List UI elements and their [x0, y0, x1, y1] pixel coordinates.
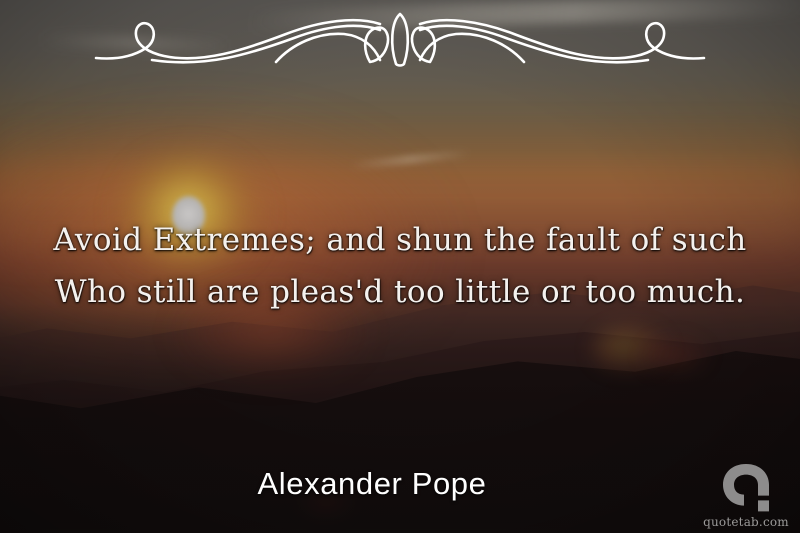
quotetab-logo-icon[interactable] — [718, 462, 774, 514]
watermark-site-label[interactable]: quotetab.com — [700, 515, 792, 529]
quote-image-card: Avoid Extremes; and shun the fault of su… — [0, 0, 800, 533]
flourish-ornament-icon — [94, 6, 706, 86]
quote-line-2: Who still are pleas'd too little or too … — [34, 266, 766, 318]
author-block: Alexander Pope — [0, 466, 800, 502]
quote-line-1: Avoid Extremes; and shun the fault of su… — [34, 214, 766, 266]
watermark[interactable]: quotetab.com — [700, 462, 792, 529]
author-name: Alexander Pope — [257, 466, 486, 501]
quote-text-block: Avoid Extremes; and shun the fault of su… — [0, 214, 800, 318]
